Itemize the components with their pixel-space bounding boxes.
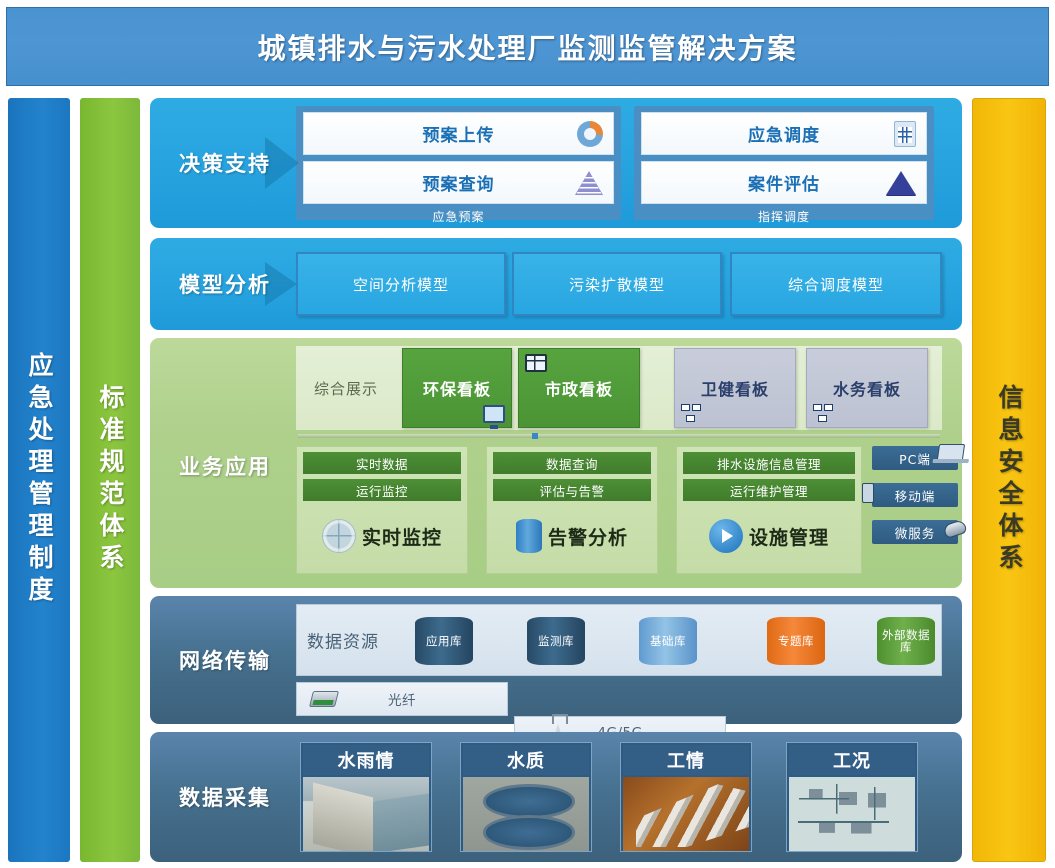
data-resource-label: 数据资源 [307, 628, 379, 653]
terminal-mobile[interactable]: 移动端 [872, 483, 958, 507]
fiber-icon [309, 691, 339, 707]
data-card-engineering[interactable]: 工情 [620, 742, 752, 852]
decision-item-plan-upload-label: 预案上传 [423, 121, 495, 146]
data-resource-strip: 数据资源 应用库 监测库 基础库 专题库 外部数据库 [296, 604, 942, 676]
database-application[interactable]: 应用库 [415, 617, 473, 665]
decision-group-command-dispatch-caption: 指挥调度 [641, 210, 927, 224]
database-thematic[interactable]: 专题库 [767, 617, 825, 665]
sidebar-standards-system-label: 标准规范体系 [92, 384, 128, 576]
database-basic[interactable]: 基础库 [639, 617, 697, 665]
business-chip-operation-monitor[interactable]: 运行监控 [303, 479, 461, 501]
data-card-operating-condition-label: 工况 [789, 745, 915, 775]
pyramid-dark-icon [886, 171, 916, 195]
business-chip-drainage-facility-info[interactable]: 排水设施信息管理 [683, 452, 855, 474]
model-item-integrated-dispatch[interactable]: 综合调度模型 [730, 252, 942, 316]
board-health[interactable]: 卫健看板 [674, 348, 796, 428]
business-chip-assessment-alarm[interactable]: 评估与告警 [493, 479, 651, 501]
decision-group-emergency-plan-caption: 应急预案 [303, 210, 614, 224]
pyramid-light-icon [575, 171, 603, 195]
business-column-realtime: 实时数据 运行监控 实时监控 [296, 446, 468, 574]
model-item-pollution-diffusion[interactable]: 污染扩散模型 [512, 252, 722, 316]
terminal-microservice[interactable]: 微服务 [872, 520, 958, 544]
river-embankment-photo [303, 777, 429, 851]
board-water-affairs[interactable]: 水务看板 [806, 348, 928, 428]
sidebar-info-security-label: 信息安全体系 [991, 384, 1027, 576]
data-card-rainfall-label: 水雨情 [303, 745, 429, 775]
display-strip-label: 综合展示 [296, 346, 396, 430]
layer-decision-support: 决策支持 预案上传 预案查询 应急预案 应急调度 案件评估 指挥调度 [150, 98, 962, 228]
window-icon [525, 354, 547, 372]
layer-network-transmission-label: 网络传输 [150, 596, 300, 724]
business-column-alarm: 数据查询 评估与告警 告警分析 [486, 446, 658, 574]
layer-data-collection-label: 数据采集 [150, 732, 300, 862]
database-monitoring[interactable]: 监测库 [527, 617, 585, 665]
sidebar-standards-system: 标准规范体系 [80, 98, 140, 862]
decision-item-case-assessment[interactable]: 案件评估 [641, 161, 927, 204]
layer-business-application-label: 业务应用 [150, 406, 300, 526]
business-title-realtime-monitor-label: 实时监控 [362, 523, 442, 550]
business-title-facility-management[interactable]: 设施管理 [677, 505, 861, 567]
layer-data-collection: 数据采集 水雨情 水质 工情 工况 [150, 732, 962, 862]
layer-network-transmission: 网络传输 数据资源 应用库 监测库 基础库 专题库 外部数据库 光纤 4G/5G… [150, 596, 962, 724]
network-link-fiber-label: 光纤 [388, 689, 416, 709]
phone-icon [862, 483, 874, 503]
terminal-mobile-label: 移动端 [895, 486, 936, 505]
pipeline-trench-photo [623, 777, 749, 851]
play-icon [709, 519, 743, 553]
page-title-banner: 城镇排水与污水处理厂监测监管解决方案 [6, 7, 1049, 86]
laptop-icon [937, 444, 965, 460]
page-title: 城镇排水与污水处理厂监测监管解决方案 [257, 27, 797, 67]
business-title-alarm-analysis-label: 告警分析 [548, 523, 628, 550]
data-card-water-quality[interactable]: 水质 [460, 742, 592, 852]
data-card-rainfall[interactable]: 水雨情 [300, 742, 432, 852]
data-card-water-quality-label: 水质 [463, 745, 589, 775]
business-chip-data-query[interactable]: 数据查询 [493, 452, 651, 474]
decision-item-plan-query-label: 预案查询 [423, 170, 495, 195]
business-title-facility-management-label: 设施管理 [749, 523, 829, 550]
board-environment[interactable]: 环保看板 [402, 348, 512, 428]
terminal-pc-label: PC端 [899, 449, 931, 468]
layer-decision-support-label: 决策支持 [150, 98, 300, 228]
business-chip-operation-maintenance[interactable]: 运行维护管理 [683, 479, 855, 501]
globe-icon [322, 519, 356, 553]
board-water-affairs-label: 水务看板 [833, 376, 901, 400]
board-health-label: 卫健看板 [701, 376, 769, 400]
layer-model-analysis: 模型分析 空间分析模型 污染扩散模型 综合调度模型 [150, 238, 962, 330]
database-external[interactable]: 外部数据库 [877, 617, 935, 665]
terminal-list: PC端 移动端 微服务 [872, 446, 958, 574]
grid-icon [894, 121, 916, 147]
sidebar-emergency-policy: 应急处理管理制度 [8, 98, 70, 862]
model-item-spatial[interactable]: 空间分析模型 [296, 252, 506, 316]
board-environment-label: 环保看板 [423, 376, 491, 400]
layer-model-analysis-label: 模型分析 [150, 238, 300, 330]
sidebar-info-security: 信息安全体系 [972, 98, 1046, 862]
architecture-stack: 决策支持 预案上传 预案查询 应急预案 应急调度 案件评估 指挥调度 [150, 98, 962, 862]
business-title-alarm-analysis[interactable]: 告警分析 [487, 505, 657, 567]
sedimentation-tanks-photo [463, 777, 589, 851]
divider-marker [532, 433, 538, 439]
decision-item-plan-query[interactable]: 预案查询 [303, 161, 614, 204]
data-card-engineering-label: 工情 [623, 745, 749, 775]
data-card-operating-condition[interactable]: 工况 [786, 742, 918, 852]
layer-business-application: 业务应用 综合展示 环保看板 市政看板 卫健看板 水务看板 实时数据 运行监控 … [150, 338, 962, 588]
decision-group-emergency-plan: 预案上传 预案查询 应急预案 [296, 106, 621, 220]
cylinder-icon [516, 519, 542, 553]
board-municipal[interactable]: 市政看板 [518, 348, 640, 428]
sidebar-emergency-policy-label: 应急处理管理制度 [21, 352, 57, 608]
business-chip-realtime-data[interactable]: 实时数据 [303, 452, 461, 474]
decision-item-emergency-dispatch-label: 应急调度 [748, 121, 820, 146]
monitor-icon [483, 405, 505, 423]
divider [298, 434, 940, 438]
recycle-icon [577, 121, 603, 147]
business-column-facility: 排水设施信息管理 运行维护管理 设施管理 [676, 446, 862, 574]
terminal-microservice-label: 微服务 [895, 523, 936, 542]
network-icon [813, 404, 833, 422]
network-icon [681, 404, 701, 422]
decision-item-case-assessment-label: 案件评估 [748, 170, 820, 195]
mouse-icon [942, 519, 967, 539]
decision-item-plan-upload[interactable]: 预案上传 [303, 112, 614, 155]
decision-item-emergency-dispatch[interactable]: 应急调度 [641, 112, 927, 155]
network-link-row: 光纤 4G/5G LORA/NB-IOT [296, 682, 942, 716]
decision-group-command-dispatch: 应急调度 案件评估 指挥调度 [634, 106, 934, 220]
process-schematic-diagram [789, 777, 915, 851]
network-link-fiber[interactable]: 光纤 [296, 682, 508, 716]
terminal-pc[interactable]: PC端 [872, 446, 958, 470]
board-municipal-label: 市政看板 [545, 376, 613, 400]
business-title-realtime-monitor[interactable]: 实时监控 [297, 505, 467, 567]
